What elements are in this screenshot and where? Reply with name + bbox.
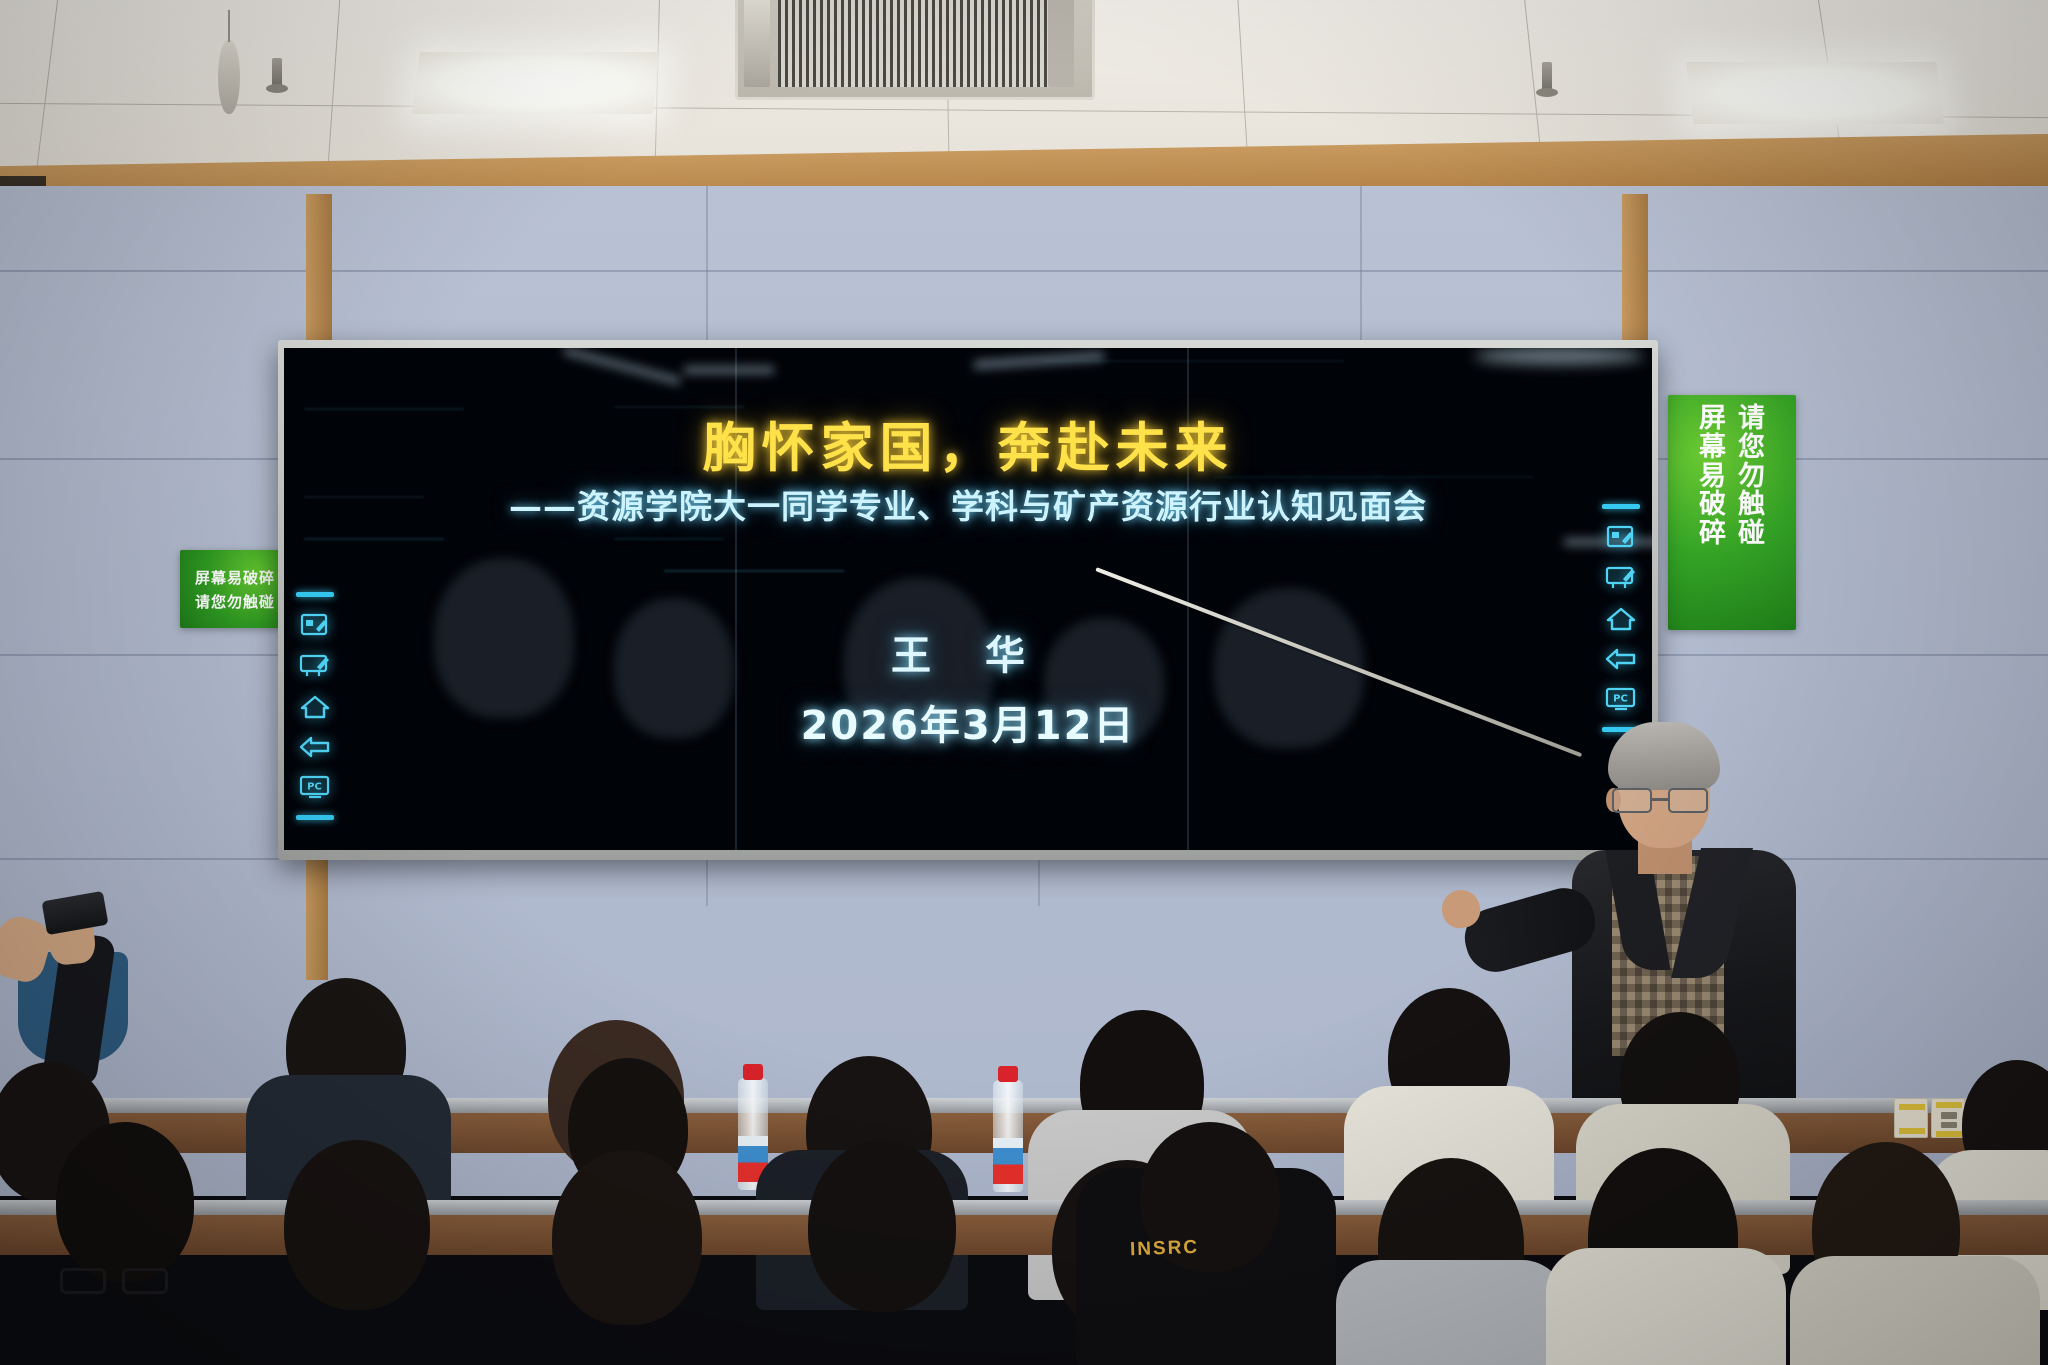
warning-sign-left-line2: 请您勿触碰 <box>195 591 275 612</box>
back-arrow-icon[interactable] <box>299 735 331 759</box>
ceiling-sensor <box>218 40 240 114</box>
sign-char: 请 <box>1738 405 1765 433</box>
presenter-glasses <box>1612 788 1716 814</box>
sign-char: 屏 <box>1699 405 1726 433</box>
warning-sign-left-line1: 屏幕易破碎 <box>195 567 275 588</box>
warning-sign-right: 请 您 勿 触 碰 屏 幕 易 破 碎 <box>1668 395 1796 630</box>
air-conditioner-vent <box>735 0 1095 100</box>
whiteboard-icon[interactable] <box>299 653 331 679</box>
wall-pillar-left-lower <box>306 840 328 980</box>
warning-sign-right-col2: 屏 幕 易 破 碎 <box>1699 405 1726 620</box>
audience-head <box>284 1140 430 1310</box>
svg-text:PC: PC <box>307 782 322 793</box>
ceiling-light-right <box>1686 62 1944 124</box>
audience-body <box>1790 1256 2040 1365</box>
presentation-display[interactable]: 胸怀家国，奔赴未来 ——资源学院大一同学专业、学科与矿产资源行业认知见面会 王 … <box>278 340 1658 860</box>
annotate-icon[interactable] <box>1606 524 1636 550</box>
warning-sign-left: 屏幕易破碎 请您勿触碰 <box>180 550 290 628</box>
audience-body <box>1546 1248 1786 1365</box>
home-icon[interactable] <box>300 694 330 720</box>
audience-head <box>808 1140 956 1312</box>
sign-char: 幕 <box>1699 434 1726 462</box>
toolbar-divider-top <box>296 592 334 597</box>
slide-speaker: 王 华 <box>284 623 1652 681</box>
audience-head <box>56 1122 194 1282</box>
av-port-plate[interactable] <box>1931 1098 1965 1138</box>
sign-char: 破 <box>1699 491 1726 519</box>
ceiling-light-left <box>412 52 660 114</box>
display-screen[interactable]: 胸怀家国，奔赴未来 ——资源学院大一同学专业、学科与矿产资源行业认知见面会 王 … <box>284 348 1652 850</box>
sprinkler-head-left <box>272 58 282 92</box>
warning-sign-right-col1: 请 您 勿 触 碰 <box>1738 405 1765 620</box>
slide-title: 胸怀家国，奔赴未来 <box>284 406 1652 482</box>
lecture-hall-scene: 屏幕易破碎 请您勿触碰 请 您 勿 触 碰 屏 幕 易 破 碎 <box>0 0 2048 1365</box>
home-icon[interactable] <box>1606 606 1636 632</box>
audience-head <box>552 1150 702 1325</box>
slide-subtitle: ——资源学院大一同学专业、学科与矿产资源行业认知见面会 <box>284 480 1652 528</box>
toolbar-divider-top <box>1602 504 1640 509</box>
pc-source-icon[interactable]: PC <box>299 774 331 800</box>
whiteboard-icon[interactable] <box>1605 565 1637 591</box>
sign-char: 碎 <box>1699 520 1726 548</box>
hoodie-print-text: INSRC <box>1130 1237 1200 1261</box>
display-toolbar-left[interactable]: PC <box>292 592 338 820</box>
sign-char: 勿 <box>1738 463 1765 491</box>
display-toolbar-right[interactable]: PC <box>1598 504 1644 732</box>
sign-char: 触 <box>1738 491 1765 519</box>
sprinkler-head-right <box>1542 62 1552 96</box>
water-bottle <box>993 1080 1023 1192</box>
presenter-hair <box>1608 722 1720 790</box>
sign-char: 碰 <box>1738 520 1765 548</box>
back-arrow-icon[interactable] <box>1605 647 1637 671</box>
toolbar-divider-bottom <box>296 815 334 820</box>
annotate-icon[interactable] <box>300 612 330 638</box>
outlet-label-plate <box>1894 1098 1928 1138</box>
audience-body <box>1336 1260 1566 1365</box>
sign-char: 易 <box>1699 463 1726 491</box>
audience-glasses <box>60 1268 172 1296</box>
sign-char: 您 <box>1738 434 1765 462</box>
